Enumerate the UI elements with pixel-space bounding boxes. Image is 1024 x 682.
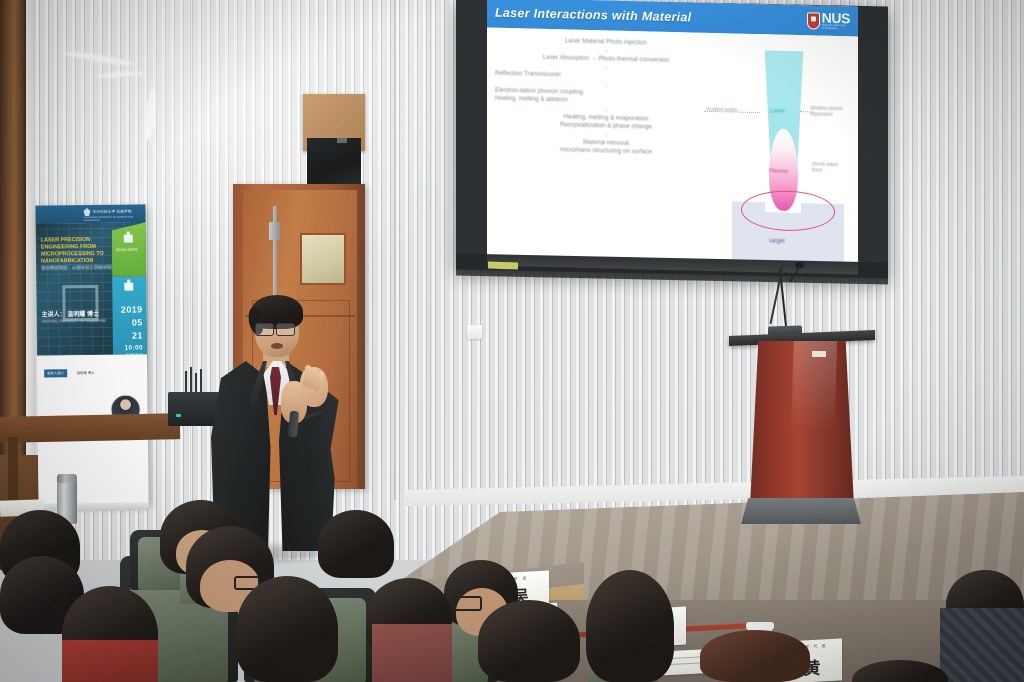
audience-hair [478, 600, 580, 682]
cup-lid [746, 622, 774, 630]
calendar-icon [124, 283, 133, 291]
poster-month: 05 [132, 317, 143, 327]
handout-text-line [666, 662, 702, 665]
eyeglasses-bridge [272, 327, 276, 328]
bio-paragraph [44, 383, 140, 388]
pen [190, 367, 192, 395]
microphone-capsule-icon [795, 262, 804, 268]
speaker-grille [307, 138, 361, 187]
location-pin-icon [124, 235, 133, 243]
eyeglasses [452, 596, 482, 611]
audience-shirt [62, 640, 158, 682]
slide-title: Laser Interactions with Material [495, 6, 691, 25]
nus-wordmark: NUS [822, 12, 850, 25]
table-leg [8, 437, 18, 507]
poster-venue: 报告地点 机械学院 [112, 248, 142, 252]
poster-speaker-affiliation: NATIONAL UNIVERSITY OF SINGAPORE [42, 319, 122, 324]
nus-subtitle-line2: of Singapore [822, 27, 850, 31]
lectern-label-plate [812, 351, 826, 357]
door-lock-icon[interactable] [269, 222, 280, 240]
bio-speaker-name: 温明耀 博士 [77, 370, 95, 375]
pen [200, 369, 202, 395]
wall-outlet [467, 325, 482, 339]
poster-year: 2019 [121, 304, 143, 314]
audience-hair [700, 630, 810, 682]
presenter-mouth [271, 343, 283, 349]
audience-hair [586, 570, 674, 682]
side-table [0, 413, 180, 443]
nus-shield-icon [807, 12, 820, 29]
diagram-annotation-right-mid: shock wave front [812, 161, 838, 174]
wall-seam [430, 0, 431, 480]
laser-label: Laser [770, 108, 785, 114]
pen [195, 373, 197, 395]
eyeglasses-left-lens [255, 323, 274, 336]
nus-logo: NUS National University of Singapore [807, 11, 850, 30]
poster-headline-chinese: 激光精密制造：从微米加工到纳米制造 [41, 265, 123, 272]
poster-day: 21 [132, 330, 143, 340]
wall-seam [394, 0, 396, 500]
target-label: Target [768, 238, 785, 244]
audience-hair [318, 510, 394, 578]
bio-section-tag: 报告人简介 [44, 369, 67, 377]
screen-tape-patch [488, 261, 518, 269]
poster-headline-english: LASER PRECISION ENGINEERING FROM MICROPR… [41, 237, 119, 266]
audience-shirt [940, 608, 1024, 682]
slide-body: Laser Material Photo Injection ↓ Laser A… [487, 27, 858, 274]
eyeglasses-right-lens [276, 323, 295, 336]
pen [185, 371, 187, 395]
university-crest-icon [83, 208, 90, 216]
wall-seam [190, 0, 191, 520]
poster-speaker-chinese: 主讲人： 温明耀 博士 [42, 309, 99, 319]
banner-header-bar: 华中科技大学 机械学院 HUAZHONG UNIVERSITY OF SCIEN… [35, 204, 145, 223]
projection-screen[interactable]: Laser Interactions with Material NUS Nat… [487, 0, 858, 275]
event-rollup-banner: 华中科技大学 机械学院 HUAZHONG UNIVERSITY OF SCIEN… [35, 204, 148, 505]
plasma-label: Plasma [769, 168, 788, 174]
lectern-front-highlight [789, 341, 837, 506]
university-name-english: HUAZHONG UNIVERSITY OF SCIENCE AND TECHN… [84, 215, 146, 222]
necktie [270, 367, 281, 415]
poster-time: 10:00 [125, 344, 143, 351]
leader-line [800, 111, 814, 112]
wall-speaker [303, 94, 365, 151]
audience-hair [236, 576, 338, 682]
banner-info-sidebar: 报告地点 机械学院 2019 05 21 10:00 TUESDAY 星期二 [112, 222, 147, 354]
banner-base [39, 502, 149, 511]
equipment-led-indicator [176, 414, 181, 417]
lecture-hall-photo: Laser Interactions with Material NUS Nat… [0, 0, 1024, 682]
slide-flowchart: Laser Material Photo Injection ↓ Laser A… [491, 36, 721, 161]
audience-shirt [372, 624, 452, 682]
door-vision-panel [300, 233, 346, 285]
thermos-cap [57, 474, 77, 483]
pen-holder [183, 365, 203, 395]
lectern-base [741, 498, 861, 524]
university-name: 华中科技大学 机械学院 [92, 210, 131, 214]
diagram-annotation-right-top: ablation plume expansion [810, 105, 843, 118]
laser-ablation-diagram: Laser Plasma Target ablation plume expan… [722, 49, 854, 264]
